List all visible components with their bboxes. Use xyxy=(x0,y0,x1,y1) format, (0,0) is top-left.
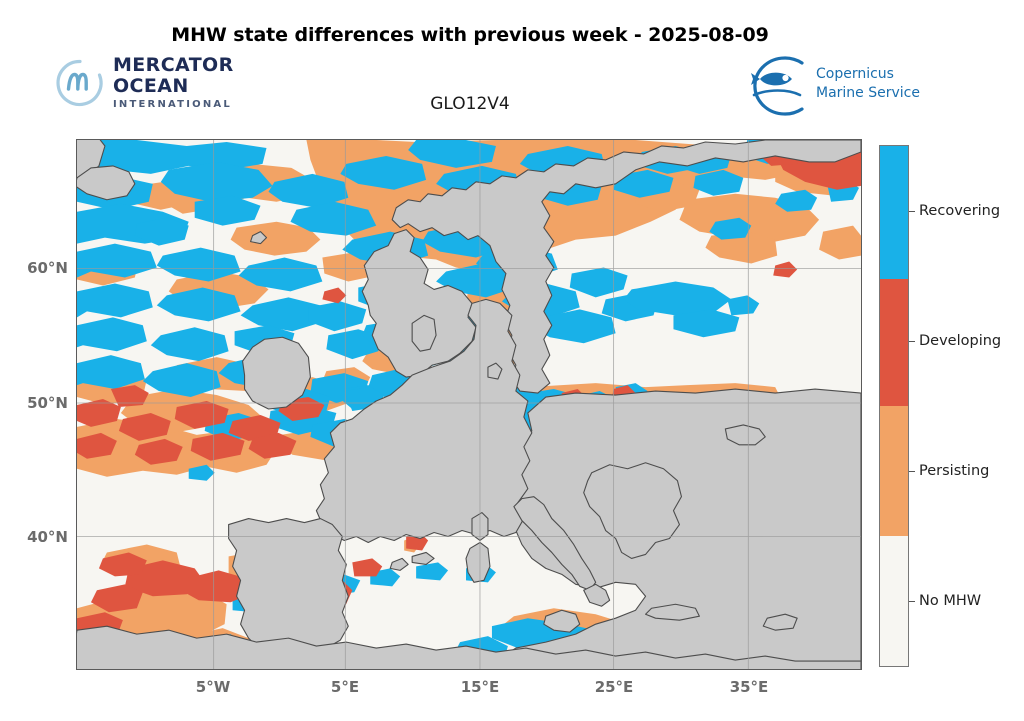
mercator-logo-text: MERCATOR OCEAN INTERNATIONAL xyxy=(113,54,234,110)
mercator-line-2: OCEAN xyxy=(113,77,234,96)
colorbar-segment-recovering xyxy=(880,146,908,279)
colorbar-label-recovering: Recovering xyxy=(919,203,1000,219)
colorbar-tick-developing xyxy=(909,341,915,342)
copernicus-logo-text: Copernicus Marine Service xyxy=(816,65,920,103)
colorbar-label-persisting: Persisting xyxy=(919,463,989,479)
mercator-line-3: INTERNATIONAL xyxy=(113,100,234,110)
y-tick-60N: 60°N xyxy=(27,259,68,277)
colorbar-tick-nomhw xyxy=(909,601,915,602)
page-title: MHW state differences with previous week… xyxy=(0,24,940,46)
colorbar-label-nomhw: No MHW xyxy=(919,593,981,609)
y-tick-50N: 50°N xyxy=(27,394,68,412)
y-tick-40N: 40°N xyxy=(27,528,68,546)
colorbar-segment-persisting xyxy=(880,406,908,536)
x-tick-15E: 15°E xyxy=(461,678,500,696)
iberia xyxy=(229,519,349,654)
copernicus-line-1: Copernicus xyxy=(816,65,920,84)
mercator-ocean-logo: MERCATOR OCEAN INTERNATIONAL xyxy=(55,54,270,116)
x-tick-35E: 35°E xyxy=(730,678,769,696)
x-tick-25E: 25°E xyxy=(595,678,634,696)
colorbar-tick-persisting xyxy=(909,471,915,472)
colorbar-label-developing: Developing xyxy=(919,333,1001,349)
copernicus-marine-logo: Copernicus Marine Service xyxy=(740,55,925,117)
mercator-m-icon xyxy=(55,58,105,108)
x-tick-5E: 5°E xyxy=(331,678,359,696)
colorbar-segment-developing xyxy=(880,279,908,406)
mercator-line-1: MERCATOR xyxy=(113,56,234,75)
map-plot-area[interactable] xyxy=(76,139,862,670)
colorbar-tick-recovering xyxy=(909,211,915,212)
mhw-state-map xyxy=(77,140,861,669)
colorbar-segment-nomhw xyxy=(880,536,908,666)
x-tick-5W: 5°W xyxy=(196,678,230,696)
fish-in-circle-icon xyxy=(740,55,812,117)
mhw-state-colorbar xyxy=(879,145,909,667)
copernicus-line-2: Marine Service xyxy=(816,84,920,103)
